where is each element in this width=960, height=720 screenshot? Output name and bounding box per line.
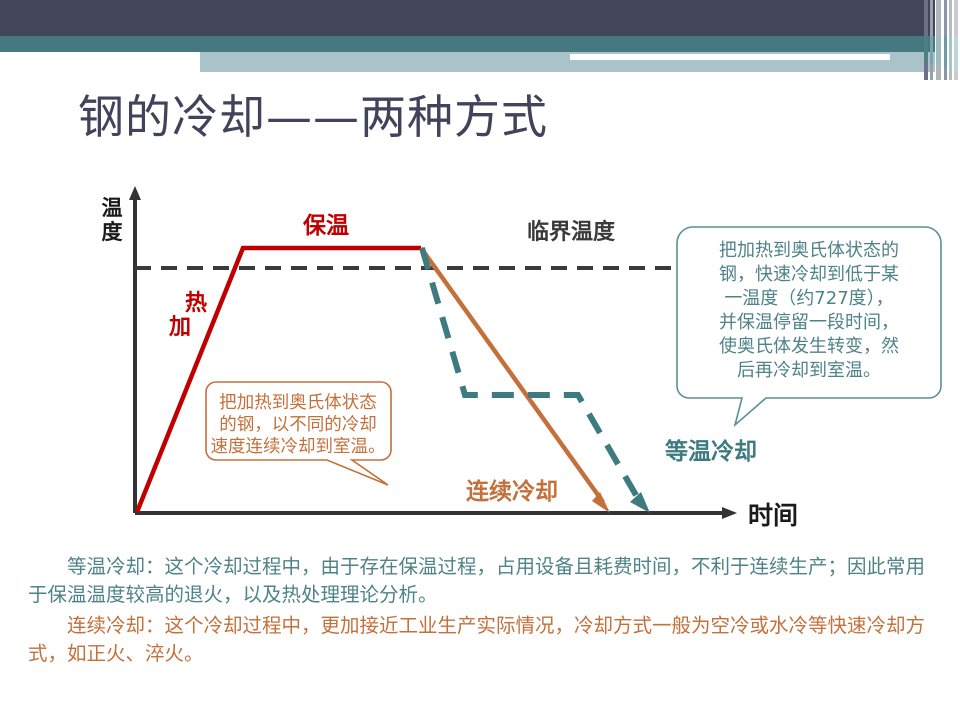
callout-right-line-4: 并保温停留一段时间， bbox=[719, 312, 899, 333]
body-text: 等温冷却：这个冷却过程中，由于存在保温过程，占用设备且耗费时间，不利于连续生产；… bbox=[28, 553, 938, 668]
page-title: 钢的冷却——两种方式 bbox=[78, 90, 548, 145]
paragraph-continuous: 连续冷却：这个冷却过程中，更加接近工业生产实际情况，冷却方式一般为空冷或水冷等快… bbox=[28, 612, 938, 669]
header-pale-stripe bbox=[200, 62, 800, 72]
header-vertical-bar-teal-3 bbox=[936, 36, 941, 66]
callout-left-line-1: 把加热到奥氏体状态 bbox=[219, 393, 377, 413]
x-axis-arrow bbox=[722, 507, 737, 519]
label-heating-char1: 热 bbox=[185, 290, 207, 316]
label-isothermal-cooling: 等温冷却 bbox=[665, 438, 757, 465]
y-axis-arrow bbox=[129, 186, 141, 200]
header-vertical-bar-teal-2 bbox=[930, 36, 933, 64]
x-axis-label: 时间 bbox=[748, 501, 798, 530]
heating-holding-curve bbox=[137, 248, 421, 512]
callout-right-line-3: 一温度（约727度）， bbox=[724, 288, 893, 309]
header-vertical-bar-teal-6 bbox=[954, 36, 958, 72]
cooling-diagram: 温 度 时间 热 加 保温 临界温度 连续冷却 等温冷却 把加热到奥氏体状态 的… bbox=[0, 180, 960, 540]
label-heating-char2: 加 bbox=[168, 315, 191, 340]
header-vertical-bar-teal-5 bbox=[949, 36, 952, 70]
callout-left-line-2: 的钢，以不同的冷却 bbox=[219, 415, 377, 435]
callout-right-line-2: 钢，快速冷却到低于某 bbox=[719, 264, 899, 285]
slide-root: 钢的冷却——两种方式 温 度 时间 热 加 bbox=[0, 0, 960, 720]
callout-right-line-1: 把加热到奥氏体状态的 bbox=[719, 240, 899, 261]
y-axis-label-char1: 温 bbox=[102, 196, 123, 220]
continuous-cooling-curve bbox=[421, 248, 603, 502]
label-continuous-cooling: 连续冷却 bbox=[466, 478, 558, 505]
header-white-stripe bbox=[570, 54, 890, 60]
label-holding: 保温 bbox=[302, 212, 349, 239]
header-vertical-bar-teal-4 bbox=[944, 36, 947, 68]
callout-right: 把加热到奥氏体状态的 钢，快速冷却到低于某 一温度（约727度）， 并保温停留一… bbox=[677, 227, 941, 425]
continuous-cooling-arrowhead bbox=[592, 492, 610, 513]
paragraph-isothermal: 等温冷却：这个冷却过程中，由于存在保温过程，占用设备且耗费时间，不利于连续生产；… bbox=[28, 553, 938, 610]
y-axis-label-char2: 度 bbox=[102, 220, 123, 244]
header-decoration bbox=[0, 0, 960, 80]
header-white-base bbox=[0, 72, 935, 80]
header-dark-band bbox=[0, 0, 935, 36]
label-critical-temperature: 临界温度 bbox=[527, 219, 616, 245]
callout-left-line-3: 速度连续冷却到室温。 bbox=[211, 437, 386, 457]
callout-left: 把加热到奥氏体状态 的钢，以不同的冷却 速度连续冷却到室温。 bbox=[206, 382, 391, 485]
isothermal-cooling-curve bbox=[422, 248, 640, 502]
callout-right-line-6: 后再冷却到室温。 bbox=[737, 360, 881, 381]
callout-right-line-5: 使奥氏体发生转变，然 bbox=[719, 336, 899, 357]
header-vertical-bar-teal-1 bbox=[924, 36, 928, 62]
